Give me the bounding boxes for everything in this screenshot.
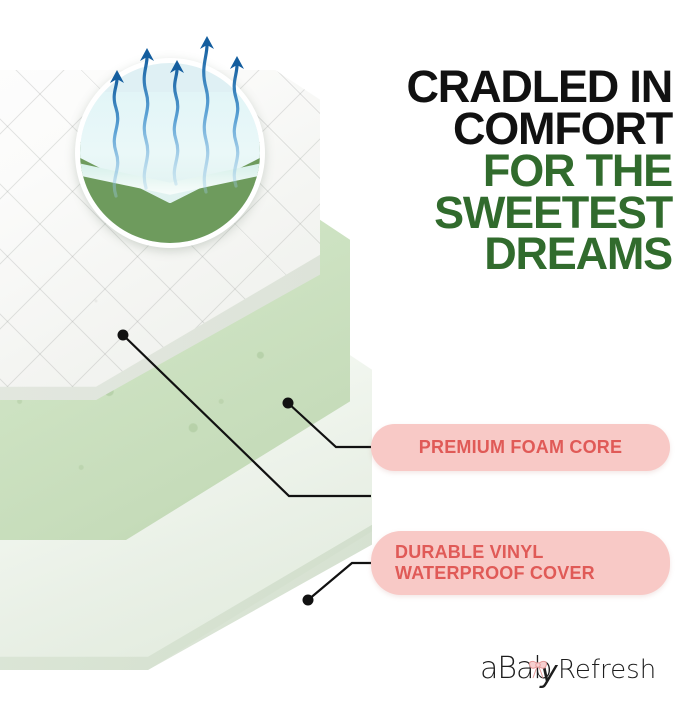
leader-dot-foam-core	[283, 398, 294, 409]
leader-line-quilted-cover	[123, 335, 371, 496]
leader-line-vinyl-cover	[308, 563, 371, 600]
callout-leader-lines	[0, 0, 679, 707]
brand-logo: aBab y Refresh	[478, 648, 663, 693]
leader-dot-quilted-cover	[118, 330, 129, 341]
brand-logo-text-y: y	[539, 655, 559, 690]
brand-logo-text-secondary: Refresh	[558, 655, 656, 685]
callout-label-vinyl-line-1: DURABLE VINYL	[395, 542, 595, 563]
callout-label-vinyl-line-2: WATERPROOF COVER	[395, 563, 595, 584]
callout-label-premium-foam-core: PREMIUM FOAM CORE	[419, 437, 622, 458]
leader-line-foam-core	[288, 403, 371, 447]
leader-dot-vinyl-cover	[303, 595, 314, 606]
callout-durable-vinyl-waterproof-cover: DURABLE VINYL WATERPROOF COVER	[371, 531, 670, 595]
callout-premium-foam-core: PREMIUM FOAM CORE	[371, 424, 670, 471]
product-infographic: CRADLED IN COMFORT FOR THE SWEETEST DREA…	[0, 0, 679, 707]
